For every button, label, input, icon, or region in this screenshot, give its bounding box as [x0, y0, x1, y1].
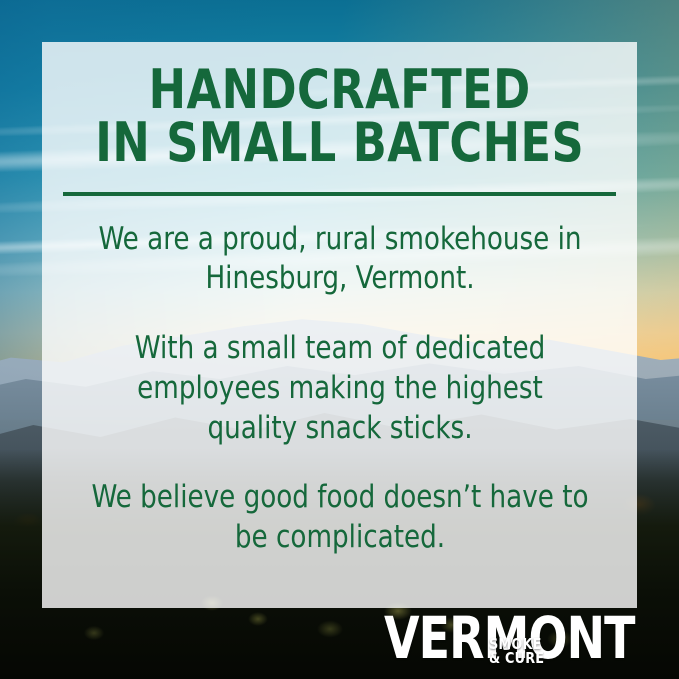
brand-logo: VERMONT SMOKE & CURE	[384, 609, 669, 671]
title-divider	[63, 192, 616, 196]
paragraph-1: We are a proud, rural smokehouse in Hine…	[90, 220, 588, 299]
brand-tagline-line-2: & CURE	[489, 651, 544, 665]
body-copy: We are a proud, rural smokehouse in Hine…	[90, 220, 588, 558]
page-title: HANDCRAFTED IN SMALL BATCHES	[95, 64, 584, 170]
brand-tagline: SMOKE & CURE	[489, 637, 544, 665]
paragraph-3: We believe good food doesn’t have to be …	[90, 478, 588, 557]
paragraph-2: With a small team of dedicated employees…	[90, 329, 588, 448]
promotional-graphic: HANDCRAFTED IN SMALL BATCHES We are a pr…	[0, 0, 679, 679]
content-panel: HANDCRAFTED IN SMALL BATCHES We are a pr…	[42, 42, 637, 608]
